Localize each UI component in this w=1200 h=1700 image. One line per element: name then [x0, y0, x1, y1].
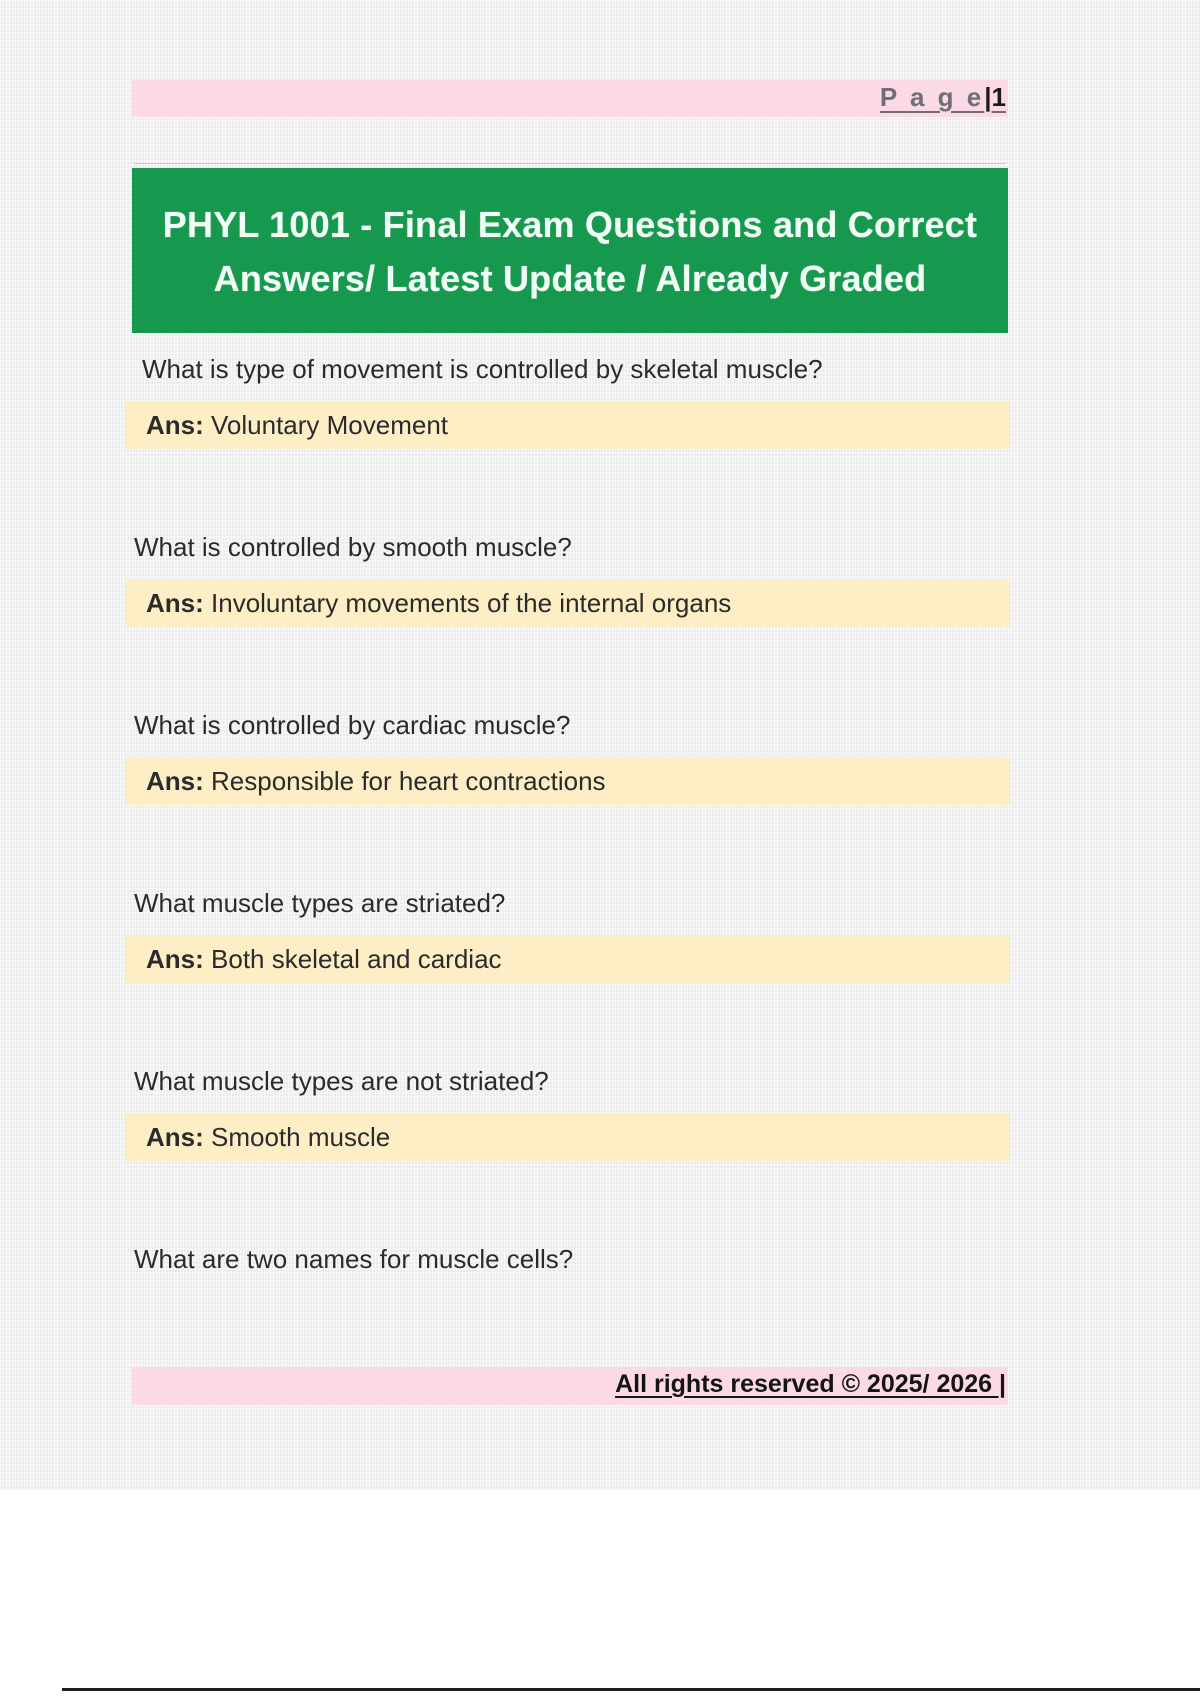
question-text: What is type of movement is controlled b… [0, 337, 1200, 401]
answer-text: Ans: Smooth muscle [146, 1122, 390, 1153]
page-bottom-margin [0, 1490, 1200, 1700]
bottom-divider-rule [62, 1688, 1200, 1691]
question-text: What muscle types are striated? [0, 871, 1200, 935]
answer-label: Ans: [146, 410, 204, 440]
page-header-text: P a g e|1 [880, 82, 1008, 113]
answer-value: Smooth muscle [211, 1122, 390, 1152]
qa-spacer [0, 627, 1200, 693]
answer-highlight-band: Ans: Involuntary movements of the intern… [126, 579, 1010, 627]
answer-text: Ans: Both skeletal and cardiac [146, 944, 502, 975]
qa-item: What muscle types are striated? Ans: Bot… [0, 871, 1200, 983]
question-text: What is controlled by cardiac muscle? [0, 693, 1200, 757]
answer-value: Responsible for heart contractions [211, 766, 606, 796]
qa-item: What is controlled by cardiac muscle? An… [0, 693, 1200, 805]
page-header-band: P a g e|1 [132, 80, 1008, 117]
answer-label: Ans: [146, 1122, 204, 1152]
question-text: What are two names for muscle cells? [0, 1227, 1200, 1291]
copyright-text: All rights reserved © 2025/ 2026 | [615, 1370, 1006, 1399]
question-text: What is controlled by smooth muscle? [0, 515, 1200, 579]
answer-value: Voluntary Movement [211, 410, 448, 440]
qa-item: What is controlled by smooth muscle? Ans… [0, 515, 1200, 627]
answer-text: Ans: Responsible for heart contractions [146, 766, 606, 797]
header-divider-rule [134, 163, 1006, 164]
answer-text: Ans: Voluntary Movement [146, 410, 448, 441]
answer-label: Ans: [146, 944, 204, 974]
answer-text: Ans: Involuntary movements of the intern… [146, 588, 731, 619]
document-title-banner: PHYL 1001 - Final Exam Questions and Cor… [132, 168, 1008, 333]
qa-spacer [0, 1161, 1200, 1227]
page-footer-band: All rights reserved © 2025/ 2026 | [132, 1367, 1008, 1405]
page-separator: | [984, 82, 991, 112]
qa-spacer [0, 449, 1200, 515]
question-text: What muscle types are not striated? [0, 1049, 1200, 1113]
qa-item: What muscle types are not striated? Ans:… [0, 1049, 1200, 1161]
page-label: P a g e [880, 82, 984, 112]
qa-item: What is type of movement is controlled b… [0, 337, 1200, 449]
qa-list: What is type of movement is controlled b… [0, 337, 1200, 1291]
qa-item: What are two names for muscle cells? [0, 1227, 1200, 1291]
answer-label: Ans: [146, 588, 204, 618]
answer-label: Ans: [146, 766, 204, 796]
qa-spacer [0, 983, 1200, 1049]
answer-value: Both skeletal and cardiac [211, 944, 502, 974]
answer-value: Involuntary movements of the internal or… [211, 588, 731, 618]
answer-highlight-band: Ans: Responsible for heart contractions [126, 757, 1010, 805]
qa-spacer [0, 805, 1200, 871]
answer-highlight-band: Ans: Voluntary Movement [126, 401, 1010, 449]
answer-highlight-band: Ans: Both skeletal and cardiac [126, 935, 1010, 983]
document-title: PHYL 1001 - Final Exam Questions and Cor… [154, 198, 986, 305]
page-number: 1 [992, 82, 1006, 112]
answer-highlight-band: Ans: Smooth muscle [126, 1113, 1010, 1161]
